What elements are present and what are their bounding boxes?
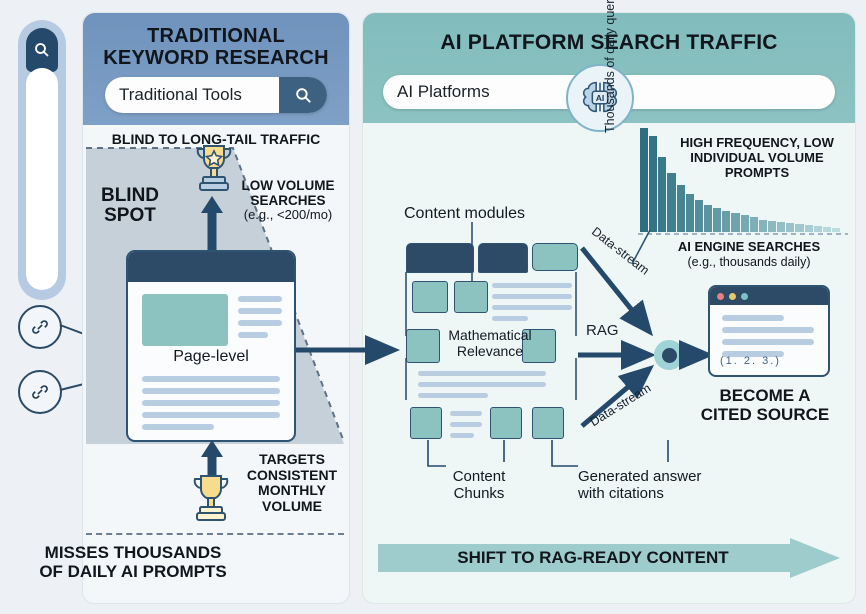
rail-slot [26, 68, 58, 290]
chart-bar [704, 205, 712, 232]
document-text-line [142, 400, 280, 406]
module-teal-block [412, 281, 448, 313]
module-dark-block [478, 243, 528, 273]
browser-title-bar [710, 287, 828, 305]
ai-brain-icon: AI [566, 64, 634, 132]
browser-text-line [722, 315, 784, 321]
module-teal-block [532, 243, 578, 271]
left-rail [18, 20, 66, 300]
rail-search-cap[interactable] [26, 28, 58, 72]
chart-bar [713, 208, 721, 232]
trophy-icon-bottom [186, 470, 236, 524]
module-text-line [492, 283, 572, 288]
module-text-line [418, 382, 546, 387]
link-icon-bottom-badge[interactable] [18, 370, 62, 414]
chart-bar [649, 136, 657, 232]
trophy-icon-top [190, 142, 238, 196]
module-teal-block [410, 407, 442, 439]
document-text-line [142, 424, 214, 430]
document-image-block [142, 294, 228, 346]
mathematical-relevance-label: Mathematical Relevance [430, 327, 550, 359]
generated-answer-label: Generated answer with citations [578, 468, 734, 502]
become-cited-source-label: BECOME A CITED SOURCE [676, 386, 854, 424]
rag-node [654, 340, 684, 370]
document-text-line [238, 308, 282, 314]
browser-dot-yellow [729, 293, 736, 300]
document-text-line [238, 320, 282, 326]
module-text-line [418, 393, 488, 398]
chart-bar [677, 185, 685, 232]
chart-bar [667, 173, 675, 232]
traditional-search-bar[interactable]: Traditional Tools [105, 77, 327, 113]
document-text-line [142, 388, 280, 394]
cited-source-browser: (1. 2. 3.) [708, 285, 830, 377]
chart-bar [722, 211, 730, 232]
search-icon [294, 86, 313, 105]
browser-text-line [722, 339, 814, 345]
targets-monthly-volume-label: TARGETS CONSISTENT MONTHLY VOLUME [240, 452, 344, 515]
content-modules-label: Content modules [404, 205, 525, 223]
link-icon-top-badge[interactable] [18, 305, 62, 349]
document-header-bar [128, 252, 294, 282]
chart-bar [640, 128, 648, 232]
shift-banner-label: SHIFT TO RAG-READY CONTENT [378, 548, 808, 568]
low-volume-searches-label: LOW VOLUME SEARCHES (e.g., <200/mo) [232, 178, 344, 223]
browser-dot-red [717, 293, 724, 300]
up-arrow-top-icon [199, 194, 225, 252]
module-text-line [450, 411, 482, 416]
link-icon [30, 317, 50, 337]
module-dark-block [406, 243, 474, 273]
search-icon [33, 41, 51, 59]
flow-label-rag: RAG [586, 322, 619, 339]
chart-title: HIGH FREQUENCY, LOW INDIVIDUAL VOLUME PR… [664, 136, 850, 181]
module-text-line [450, 433, 474, 438]
document-text-line [142, 412, 280, 418]
citation-markers: (1. 2. 3.) [720, 355, 781, 367]
content-chunks-label: Content Chunks [432, 468, 526, 502]
chart-x-axis-label: AI ENGINE SEARCHES (e.g., thousands dail… [648, 240, 850, 269]
infographic-canvas: TRADITIONAL KEYWORD RESEARCH Traditional… [0, 0, 866, 614]
traditional-search-button[interactable] [279, 77, 327, 113]
browser-text-line [722, 327, 814, 333]
misses-daily-prompts-label: MISSES THOUSANDS OF DAILY AI PROMPTS [0, 543, 266, 581]
chart-bar [686, 194, 694, 232]
ai-platform-search-input[interactable]: AI Platforms [383, 82, 490, 102]
blind-spot-label: BLIND SPOT [90, 186, 170, 226]
traditional-search-input[interactable]: Traditional Tools [105, 85, 242, 105]
page-level-label: Page-level [128, 348, 294, 366]
chart-bar [695, 200, 703, 232]
module-teal-block [490, 407, 522, 439]
traditional-title: TRADITIONAL KEYWORD RESEARCH [103, 26, 328, 69]
document-text-line [238, 296, 282, 302]
page-level-document: Page-level [126, 250, 296, 442]
module-text-line [418, 371, 546, 376]
chart-y-axis-label: Thousands of daily queries [604, 33, 618, 133]
link-icon [30, 382, 50, 402]
document-text-line [238, 332, 268, 338]
module-teal-block [532, 407, 564, 439]
browser-dot-green [741, 293, 748, 300]
module-text-line [450, 422, 482, 427]
module-text-line [492, 305, 572, 310]
left-panel-divider [86, 533, 344, 535]
module-teal-block [454, 281, 488, 313]
rag-node-core [662, 348, 677, 363]
document-text-line [142, 376, 280, 382]
module-text-line [492, 294, 572, 299]
module-text-line [492, 316, 528, 321]
